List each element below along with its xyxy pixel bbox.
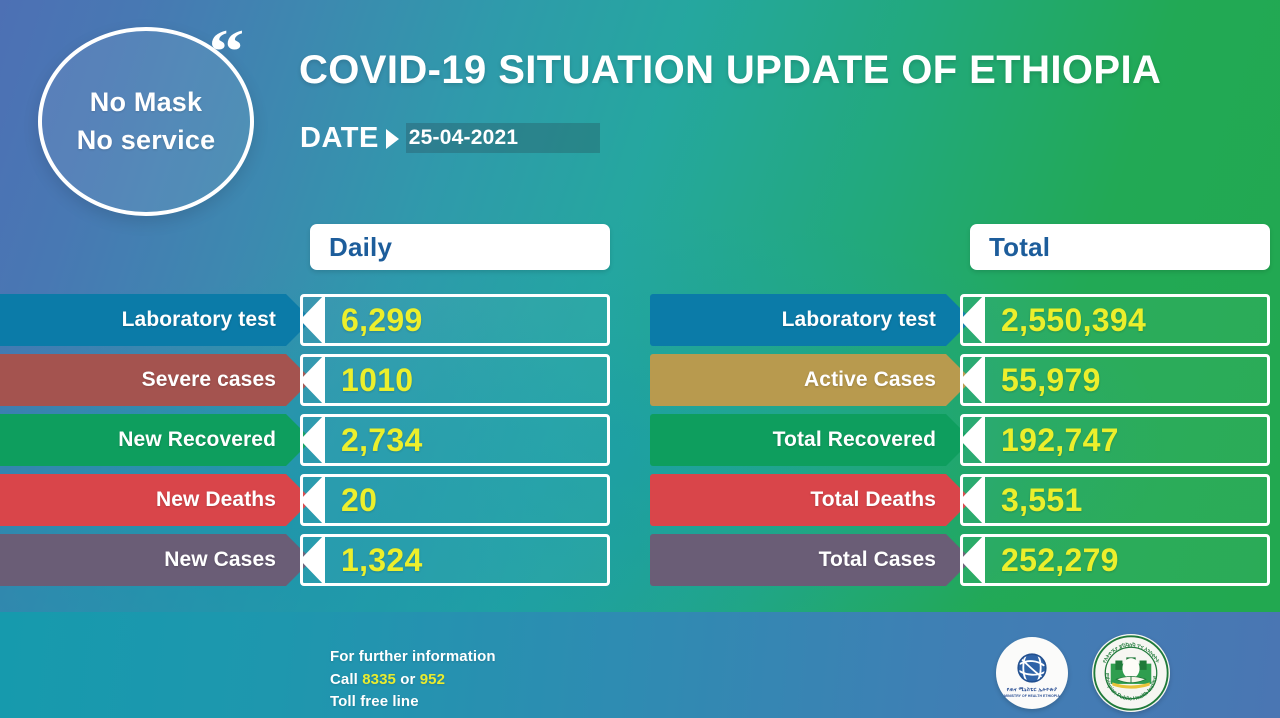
date-value: 25-04-2021 — [406, 126, 518, 150]
stat-label-bar: Total Cases — [650, 534, 972, 586]
chevron-right-icon — [300, 354, 325, 406]
chevron-right-icon — [300, 414, 325, 466]
stat-value: 1010 — [341, 364, 413, 396]
stat-value: 20 — [341, 484, 377, 516]
stat-row: New Recovered 2,734 — [0, 414, 610, 466]
date-row: DATE 25-04-2021 — [300, 122, 600, 154]
stat-value: 192,747 — [1001, 424, 1119, 456]
stat-value: 55,979 — [1001, 364, 1101, 396]
stat-value-box: 3,551 — [960, 474, 1270, 526]
total-column-heading: Total — [989, 232, 1050, 263]
stat-value: 252,279 — [1001, 544, 1119, 576]
chevron-right-icon — [300, 534, 325, 586]
daily-rows: Laboratory test 6,299 Severe cases 1010 — [0, 294, 610, 586]
stat-label: Total Deaths — [810, 488, 936, 512]
stat-label: New Recovered — [118, 428, 276, 452]
call-prefix: Call — [330, 671, 362, 688]
stat-label-bar: Active Cases — [650, 354, 972, 406]
stat-row: Laboratory test 6,299 — [0, 294, 610, 346]
stat-row: Total Recovered 192,747 — [650, 414, 1270, 466]
contact-line-3: Toll free line — [330, 691, 496, 714]
stat-row: Severe cases 1010 — [0, 354, 610, 406]
ephi-seal-icon: የእትዮኧያ ጃႩႩስႩ ፕና አንስቲትት Ethiopian Public … — [1092, 634, 1170, 712]
call-middle: or — [396, 671, 420, 688]
stat-label: Laboratory test — [122, 308, 276, 332]
total-column-header: Total — [970, 224, 1270, 270]
covid-situation-poster: No Mask No service “ COVID-19 SITUATION … — [0, 0, 1280, 718]
daily-column-heading: Daily — [329, 232, 392, 263]
chevron-right-icon — [960, 294, 985, 346]
stat-value-box: 2,734 — [300, 414, 610, 466]
stat-label: New Deaths — [156, 488, 276, 512]
stat-value: 2,734 — [341, 424, 423, 456]
stat-value-box: 55,979 — [960, 354, 1270, 406]
stat-row: New Cases 1,324 — [0, 534, 610, 586]
footer-band: For further information Call 8335 or 952… — [0, 612, 1280, 718]
total-column: Total Laboratory test 2,550,394 Active C… — [650, 224, 1270, 594]
badge-line-2: No service — [77, 122, 216, 159]
stat-value: 6,299 — [341, 304, 423, 336]
stat-label: Total Cases — [819, 548, 936, 572]
contact-info: For further information Call 8335 or 952… — [330, 646, 496, 714]
chevron-right-icon — [300, 474, 325, 526]
stat-value: 1,324 — [341, 544, 423, 576]
stat-label-bar: New Cases — [0, 534, 312, 586]
chevron-right-icon — [960, 474, 985, 526]
stat-label-bar: Laboratory test — [0, 294, 312, 346]
quote-mark-icon: “ — [209, 21, 245, 83]
stat-label: Active Cases — [804, 368, 936, 392]
stat-row: Total Cases 252,279 — [650, 534, 1270, 586]
stat-value: 2,550,394 — [1001, 304, 1146, 336]
hotline-number-secondary: 952 — [420, 671, 445, 688]
stat-row: Total Deaths 3,551 — [650, 474, 1270, 526]
badge-line-1: No Mask — [90, 84, 202, 121]
stat-value-box: 252,279 — [960, 534, 1270, 586]
logo-group: የጠና ሚኒስቴር ኢትዮጵያ MINISTRY OF HEALTH ETHIO… — [996, 634, 1170, 712]
chevron-right-icon — [960, 414, 985, 466]
ministry-of-health-logo: የጠና ሚኒስቴር ኢትዮጵያ MINISTRY OF HEALTH ETHIO… — [996, 637, 1068, 709]
no-mask-no-service-badge: No Mask No service “ — [38, 27, 254, 216]
stat-label: Laboratory test — [782, 308, 936, 332]
stat-value-box: 20 — [300, 474, 610, 526]
stat-label-bar: Total Recovered — [650, 414, 972, 466]
stat-value-box: 1010 — [300, 354, 610, 406]
page-title: COVID-19 SITUATION UPDATE OF ETHIOPIA — [299, 48, 1161, 93]
stat-value-box: 6,299 — [300, 294, 610, 346]
stat-label-bar: New Deaths — [0, 474, 312, 526]
stat-label-bar: Total Deaths — [650, 474, 972, 526]
stat-row: Laboratory test 2,550,394 — [650, 294, 1270, 346]
stat-value-box: 2,550,394 — [960, 294, 1270, 346]
stat-label: Severe cases — [142, 368, 276, 392]
daily-column: Daily Laboratory test 6,299 Severe cases… — [0, 224, 610, 594]
date-label: DATE — [300, 122, 379, 155]
triangle-right-icon — [386, 129, 399, 149]
date-value-container: 25-04-2021 — [406, 123, 600, 153]
ethiopian-public-health-institute-logo: የእትዮኧያ ጃႩႩስႩ ፕና አንስቲትት Ethiopian Public … — [1092, 634, 1170, 712]
chevron-right-icon — [960, 354, 985, 406]
chevron-right-icon — [300, 294, 325, 346]
stat-row: Active Cases 55,979 — [650, 354, 1270, 406]
moh-amharic-text: የጠና ሚኒስቴር ኢትዮጵያ — [1007, 687, 1058, 694]
total-rows: Laboratory test 2,550,394 Active Cases 5… — [650, 294, 1270, 586]
stat-label-bar: New Recovered — [0, 414, 312, 466]
moh-english-text: MINISTRY OF HEALTH ETHIOPIA — [1004, 694, 1060, 698]
stat-label: Total Recovered — [773, 428, 936, 452]
stat-label: New Cases — [164, 548, 276, 572]
stat-row: New Deaths 20 — [0, 474, 610, 526]
contact-line-2: Call 8335 or 952 — [330, 669, 496, 692]
stat-value-box: 1,324 — [300, 534, 610, 586]
chevron-right-icon — [960, 534, 985, 586]
hotline-number-primary: 8335 — [362, 671, 396, 688]
stat-label-bar: Severe cases — [0, 354, 312, 406]
contact-line-1: For further information — [330, 646, 496, 669]
stat-value-box: 192,747 — [960, 414, 1270, 466]
globe-network-icon — [1015, 651, 1049, 685]
stat-label-bar: Laboratory test — [650, 294, 972, 346]
stat-value: 3,551 — [1001, 484, 1083, 516]
daily-column-header: Daily — [310, 224, 610, 270]
